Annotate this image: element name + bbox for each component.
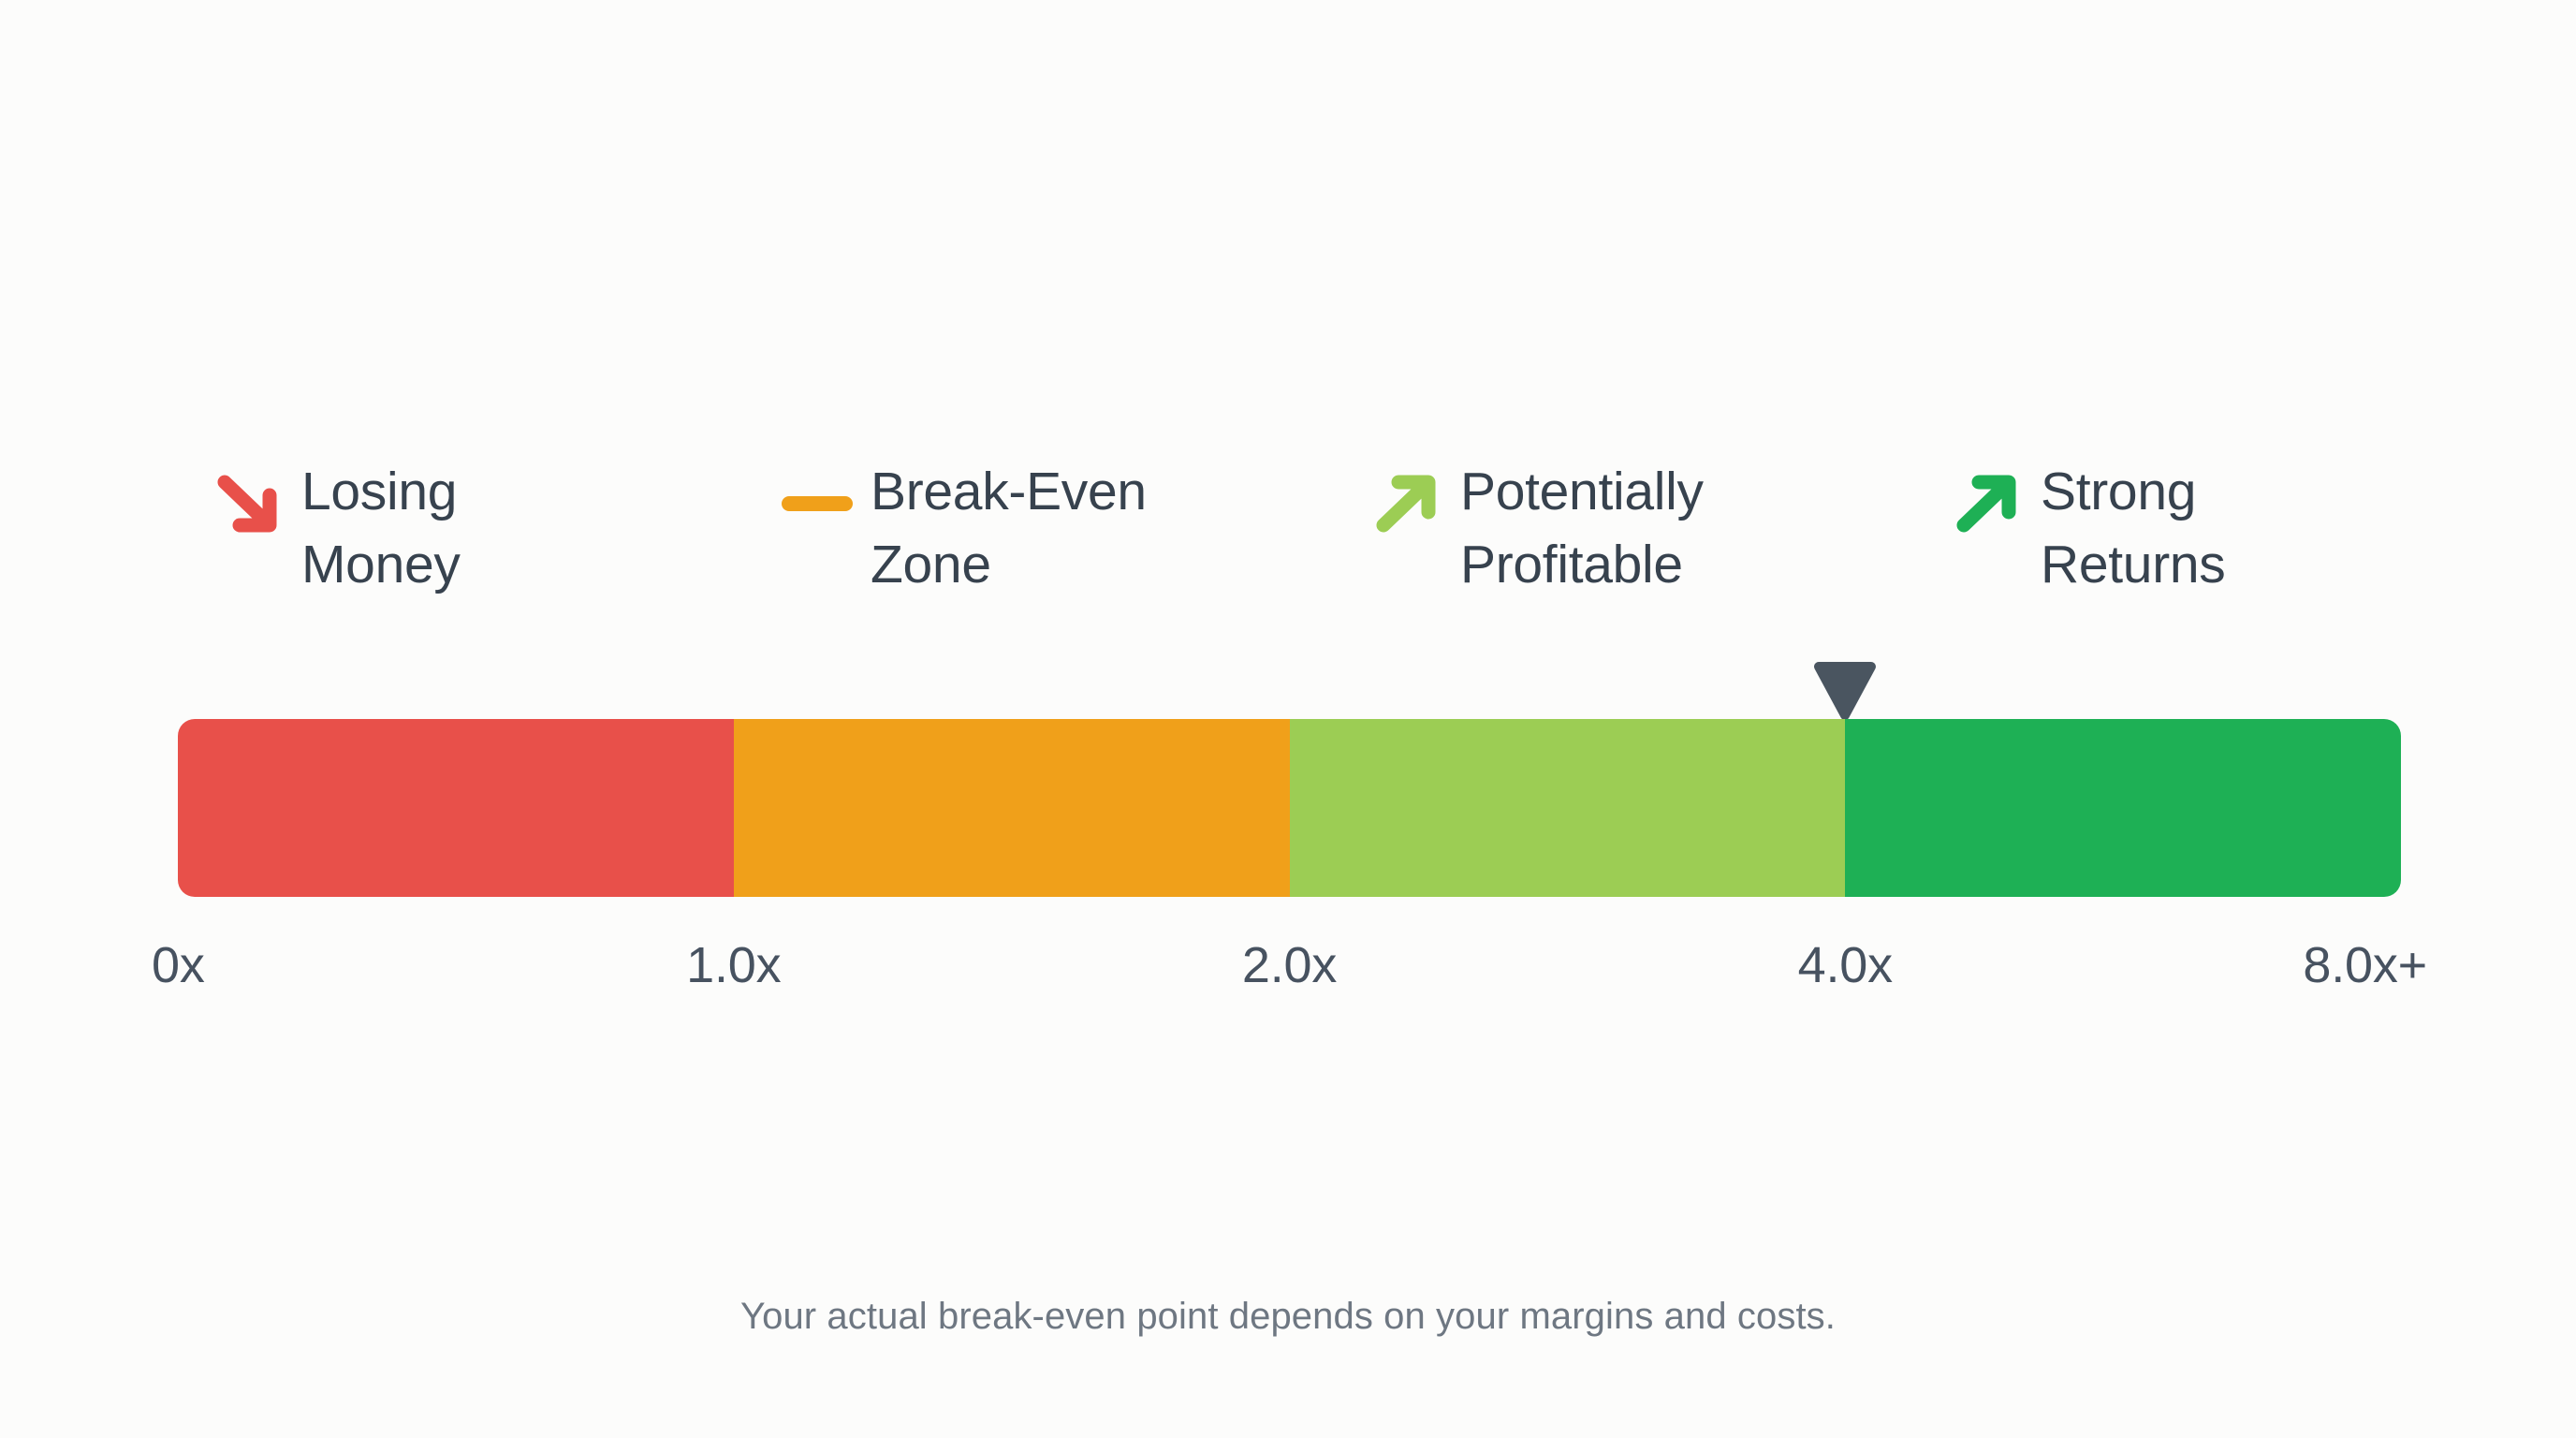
scale-segment-potentially-profitable[interactable] xyxy=(1290,719,1846,897)
axis-tick-label: 1.0x xyxy=(686,936,781,994)
legend-item-losing-money[interactable]: Losing Money xyxy=(178,455,768,601)
legend-item-label: Losing Money xyxy=(288,455,461,601)
axis-tick-label: 4.0x xyxy=(1798,936,1893,994)
scale-segment-strong-returns[interactable] xyxy=(1845,719,2401,897)
legend-item-strong-returns[interactable]: Strong Returns xyxy=(1928,455,2396,601)
roas-scale-bar[interactable] xyxy=(178,719,2401,897)
caption-text: Your actual break-even point depends on … xyxy=(0,1290,2576,1343)
scale-axis-ticks: 0x1.0x2.0x4.0x8.0x+ xyxy=(0,936,2576,1002)
scale-segment-break-even-zone[interactable] xyxy=(734,719,1290,897)
legend-item-label: Strong Returns xyxy=(2027,455,2225,601)
axis-tick-label: 2.0x xyxy=(1242,936,1337,994)
arrow-up-right-icon xyxy=(1367,459,1447,549)
axis-tick-label: 0x xyxy=(152,936,205,994)
roas-scale-infographic: Losing Money Break-Even Zone Potentially… xyxy=(0,0,2576,1438)
legend: Losing Money Break-Even Zone Potentially… xyxy=(178,455,2406,614)
horizontal-dash-icon xyxy=(777,459,857,549)
legend-item-potentially-profitable[interactable]: Potentially Profitable xyxy=(1348,455,1928,601)
legend-item-label: Break-Even Zone xyxy=(857,455,1147,601)
axis-tick-label: 8.0x+ xyxy=(2303,936,2427,994)
legend-item-break-even-zone[interactable]: Break-Even Zone xyxy=(768,455,1348,601)
current-position-marker[interactable] xyxy=(1811,661,1879,719)
arrow-down-right-icon xyxy=(208,459,288,549)
legend-item-label: Potentially Profitable xyxy=(1447,455,1704,601)
scale-segment-losing-money[interactable] xyxy=(178,719,734,897)
arrow-up-right-icon xyxy=(1947,459,2027,549)
